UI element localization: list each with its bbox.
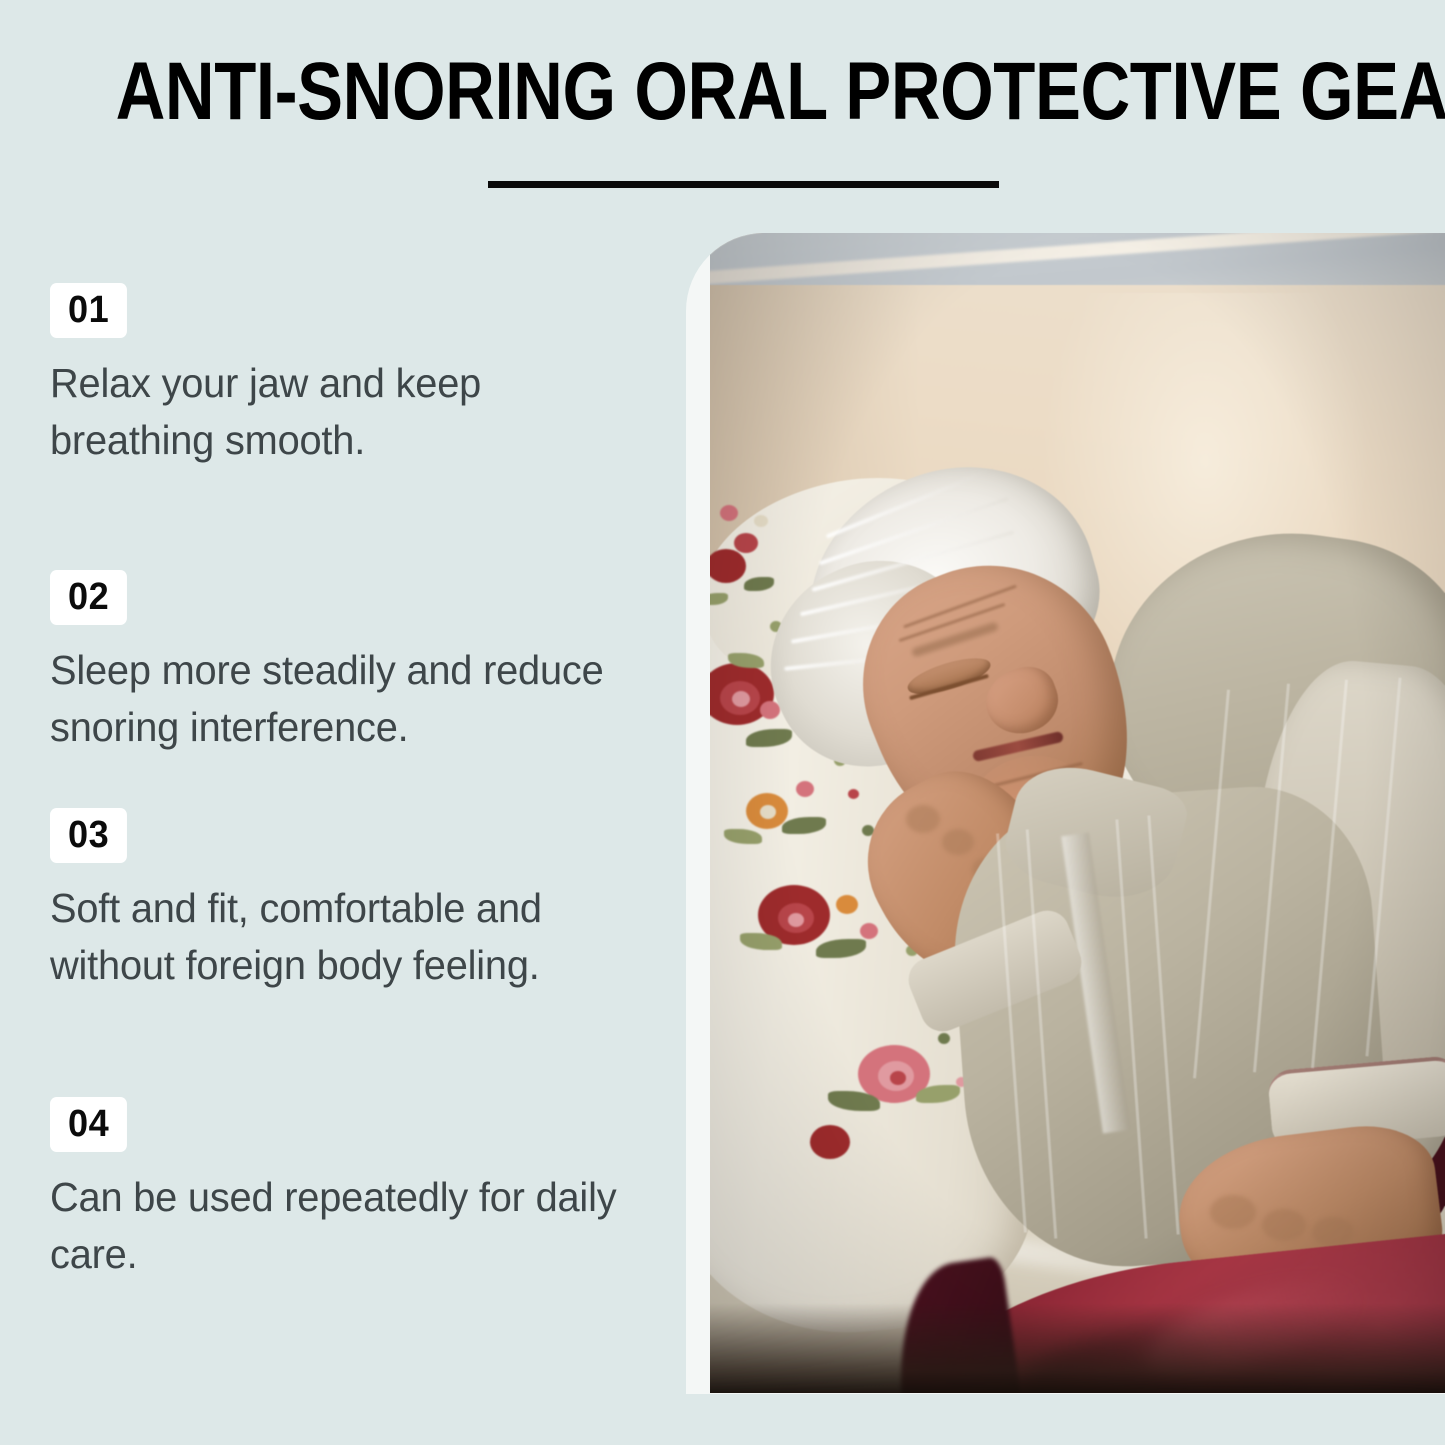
bottom-shadow xyxy=(710,1303,1445,1393)
knuckle xyxy=(906,805,940,833)
embroidery-vine-dot xyxy=(848,789,859,799)
feature-list: 01 Relax your jaw and keep breathing smo… xyxy=(0,233,686,1445)
feature-item-03: 03 Soft and fit, comfortable and without… xyxy=(50,808,670,994)
embroidery-flower xyxy=(810,1125,850,1159)
embroidery-flower xyxy=(734,533,758,553)
embroidery-flower-core xyxy=(760,805,776,819)
feature-number-badge: 01 xyxy=(50,283,127,338)
title-divider xyxy=(488,181,999,188)
embroidery-flower-core xyxy=(788,913,804,927)
sleeping-woman-photo xyxy=(710,233,1445,1393)
feature-description: Soft and fit, comfortable and without fo… xyxy=(50,880,651,994)
embroidery-bud xyxy=(836,895,858,914)
embroidery-bud xyxy=(796,781,814,797)
photo-frame xyxy=(686,233,1445,1394)
feature-item-04: 04 Can be used repeatedly for daily care… xyxy=(50,1097,670,1283)
knuckle xyxy=(1210,1195,1256,1229)
feature-number-badge: 03 xyxy=(50,808,127,863)
embroidery-flower-core xyxy=(732,691,750,707)
knuckle xyxy=(942,829,974,855)
feature-item-02: 02 Sleep more steadily and reduce snorin… xyxy=(50,570,670,756)
knuckle xyxy=(1312,1217,1354,1247)
page-title: ANTI-SNORING ORAL PROTECTIVE GEAR xyxy=(116,50,1330,134)
feature-item-01: 01 Relax your jaw and keep breathing smo… xyxy=(50,283,670,469)
embroidery-flower-core xyxy=(890,1071,906,1085)
feature-description: Can be used repeatedly for daily care. xyxy=(50,1169,651,1283)
embroidery-vine-dot xyxy=(938,1033,950,1044)
knuckle xyxy=(1262,1209,1306,1241)
feature-description: Relax your jaw and keep breathing smooth… xyxy=(50,355,651,469)
embroidery-bud xyxy=(720,505,738,521)
embroidery-bud xyxy=(860,923,878,939)
feature-description: Sleep more steadily and reduce snoring i… xyxy=(50,642,651,756)
embroidery-bud xyxy=(754,515,768,527)
feature-number-badge: 02 xyxy=(50,570,127,625)
embroidery-bud xyxy=(760,701,780,719)
feature-number-badge: 04 xyxy=(50,1097,127,1152)
header: ANTI-SNORING ORAL PROTECTIVE GEAR xyxy=(0,0,1445,215)
